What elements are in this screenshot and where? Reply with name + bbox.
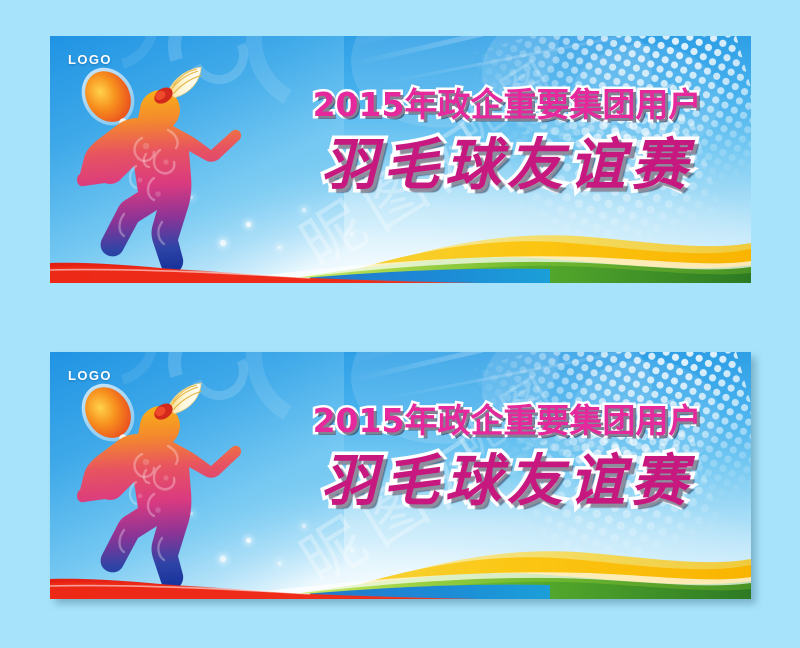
shuttlecock-icon xyxy=(144,382,214,426)
headline-block: 2015年政企重要集团用户 羽毛球友谊赛 xyxy=(272,404,742,509)
decorative-wave-footer xyxy=(50,207,751,283)
poster-banner-secondary: 昵图 昵图网 LOGO xyxy=(50,352,751,599)
event-subtitle: 羽毛球友谊赛 xyxy=(272,453,742,509)
headline-block: 2015年政企重要集团用户 羽毛球友谊赛 xyxy=(272,88,742,193)
decorative-wave-footer xyxy=(50,523,751,599)
poster-banner-primary: 昵图 昵图网 LOGO xyxy=(50,36,751,283)
event-subtitle: 羽毛球友谊赛 xyxy=(272,137,742,193)
page-title: 2015年政企重要集团用户 xyxy=(272,88,742,121)
shuttlecock-icon xyxy=(144,66,214,110)
page-title: 2015年政企重要集团用户 xyxy=(272,404,742,437)
